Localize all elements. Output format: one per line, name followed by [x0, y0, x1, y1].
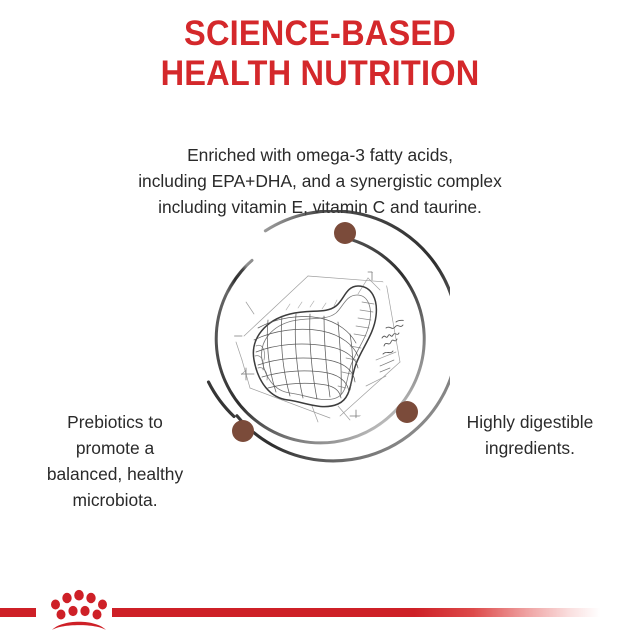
caption-prebiotics-line-2: promote a: [16, 435, 214, 461]
royal-canin-crown-logo: [46, 586, 112, 634]
benefit-dot-bottom-right: [396, 401, 418, 423]
caption-digestibility-line-1: Highly digestible: [430, 409, 630, 435]
caption-digestibility: Highly digestible ingredients.: [430, 409, 630, 461]
caption-digestibility-line-2: ingredients.: [430, 435, 630, 461]
benefit-dot-bottom-left: [232, 420, 254, 442]
brand-bar-left: [0, 608, 36, 617]
intro-line-2: including EPA+DHA, and a synergistic com…: [60, 168, 580, 194]
crown-icon: [51, 590, 107, 630]
kibble-diagram: [190, 210, 450, 470]
brand-bar-right: [112, 608, 600, 617]
caption-prebiotics-line-1: Prebiotics to: [16, 409, 214, 435]
page-title-line-1: SCIENCE-BASED: [22, 14, 617, 54]
brand-footer: [0, 568, 640, 640]
caption-prebiotics-line-3: balanced, healthy: [16, 461, 214, 487]
product-feature-panel: SCIENCE-BASED HEALTH NUTRITION Enriched …: [0, 0, 640, 640]
caption-prebiotics: Prebiotics to promote a balanced, health…: [16, 409, 214, 513]
intro-paragraph: Enriched with omega-3 fatty acids, inclu…: [60, 142, 580, 220]
caption-prebiotics-line-4: microbiota.: [16, 487, 214, 513]
benefit-dot-top: [334, 222, 356, 244]
intro-line-1: Enriched with omega-3 fatty acids,: [60, 142, 580, 168]
page-title-line-2: HEALTH NUTRITION: [22, 54, 617, 94]
page-title: SCIENCE-BASED HEALTH NUTRITION: [22, 14, 617, 94]
kibble-sketch: [234, 268, 408, 422]
inner-orbit-ring: [216, 236, 424, 443]
